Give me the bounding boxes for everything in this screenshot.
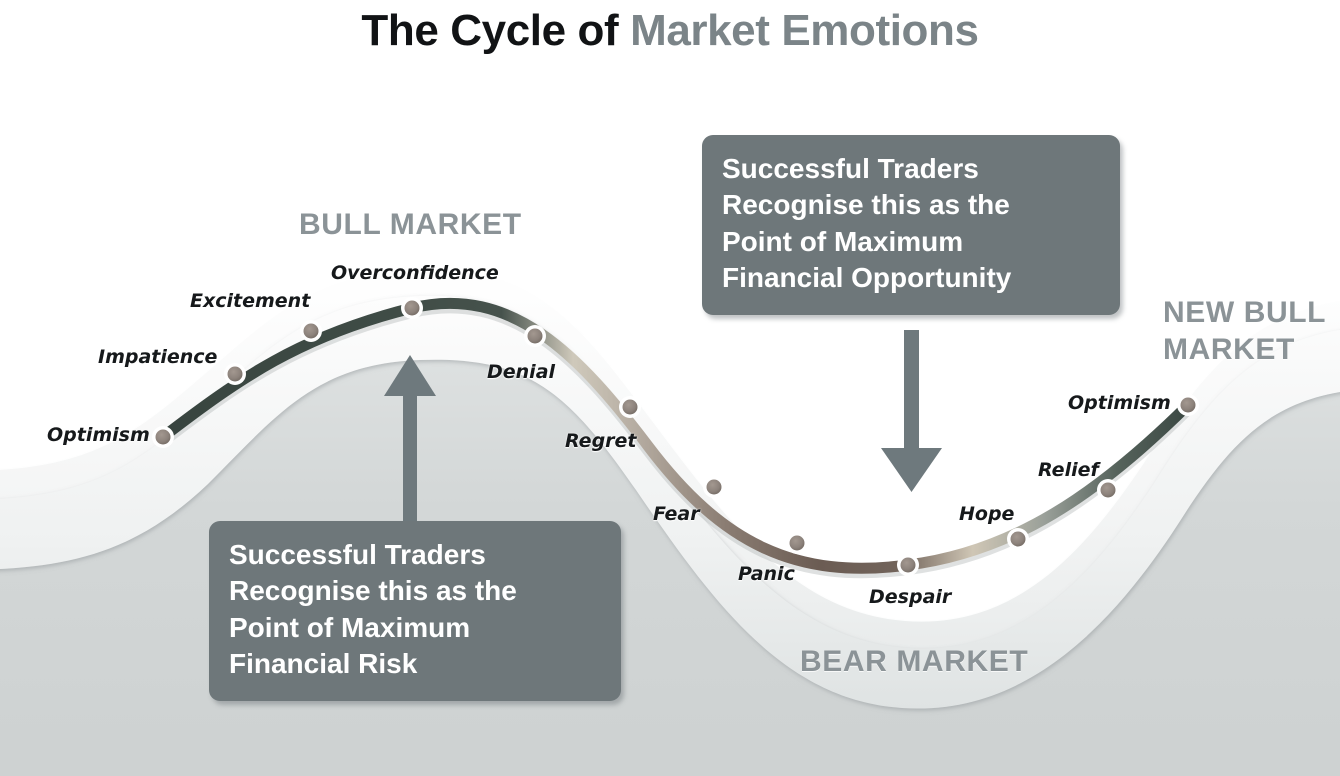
callout-top-line-1: Successful Traders [722,151,1100,187]
emotion-label-impatience: Impatience [98,346,217,368]
section-label-new-bull-market: NEW BULL MARKET [1163,295,1326,368]
new-bull-line-1: NEW BULL [1163,295,1326,332]
title-dark-part: The Cycle of [361,6,630,55]
node-marker [300,320,322,342]
node-marker [1097,479,1119,501]
node-marker [524,325,546,347]
new-bull-line-2: MARKET [1163,332,1326,369]
callout-top-line-4: Financial Opportunity [722,260,1100,296]
node-marker [619,396,641,418]
emotion-label-optimism-bull: Optimism [47,424,150,446]
node-marker [224,363,246,385]
callout-top-line-2: Recognise this as the [722,187,1100,223]
emotion-cycle-chart [0,0,1340,776]
arrow-down-icon [881,330,942,492]
emotion-label-excitement: Excitement [190,290,310,312]
callout-max-financial-opportunity: Successful Traders Recognise this as the… [702,135,1120,315]
emotion-label-hope: Hope [959,503,1014,525]
page-title: The Cycle of Market Emotions [0,6,1340,56]
node-marker [897,554,919,576]
callout-max-financial-risk: Successful Traders Recognise this as the… [209,521,621,701]
section-label-bear-market: BEAR MARKET [800,645,1028,679]
node-marker [703,476,725,498]
node-marker [401,297,423,319]
emotion-label-regret: Regret [565,430,637,452]
section-label-bull-market: BULL MARKET [299,208,522,242]
market-emotions-infographic: The Cycle of Market Emotions BULL MARKET… [0,0,1340,776]
node-marker [1007,528,1029,550]
node-marker [152,426,174,448]
callout-bottom-line-4: Financial Risk [229,646,601,682]
emotion-label-overconfidence: Overconfidence [331,262,499,284]
callout-bottom-line-1: Successful Traders [229,537,601,573]
callout-bottom-line-2: Recognise this as the [229,573,601,609]
emotion-label-despair: Despair [869,586,951,608]
node-marker [786,532,808,554]
emotion-label-panic: Panic [738,563,795,585]
emotion-label-relief: Relief [1038,459,1099,481]
title-grey-part: Market Emotions [630,6,979,55]
emotion-label-optimism-new-bull: Optimism [1068,392,1171,414]
callout-top-line-3: Point of Maximum [722,224,1100,260]
emotion-label-denial: Denial [487,361,555,383]
callout-bottom-line-3: Point of Maximum [229,610,601,646]
node-marker [1177,394,1199,416]
emotion-label-fear: Fear [653,503,700,525]
